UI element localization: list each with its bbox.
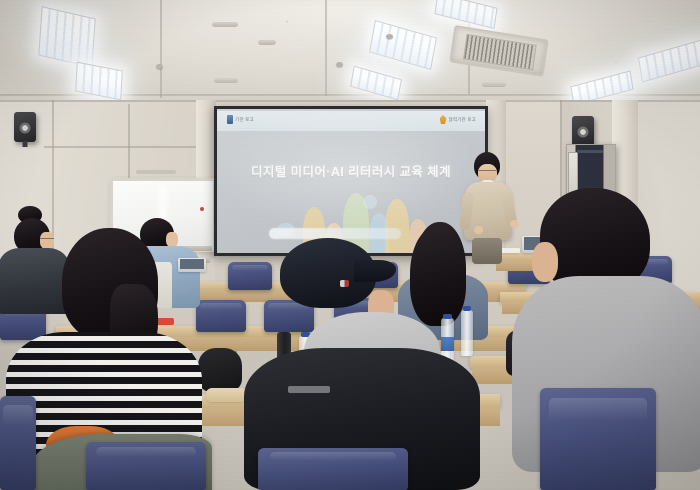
chair-foreground (540, 388, 656, 490)
chair-foreground (0, 396, 36, 490)
slide-logo-right: 협력기관 로고 (440, 115, 477, 124)
jacket-brand-text (288, 386, 330, 393)
presenter-glasses-icon (479, 170, 496, 174)
lecture-hall-photo: 기관 로고 협력기관 로고 디지털 미디어·AI 리터러시 교육 체계 (0, 0, 700, 490)
chair-foreground (86, 442, 206, 490)
ceiling-seam (325, 0, 327, 96)
slide-logo-left: 기관 로고 (227, 115, 254, 124)
slide-title: 디지털 미디어·AI 리터러시 교육 체계 (217, 161, 485, 180)
smoke-detector-icon (156, 64, 163, 69)
wall-speaker-right (572, 116, 594, 146)
slide-logo-left-text: 기관 로고 (235, 117, 254, 123)
slide-decor-blob (363, 195, 377, 209)
slide-logo-right-text: 협력기관 로고 (449, 117, 477, 123)
whiteboard-rail (136, 170, 176, 174)
chair-foreground (258, 448, 408, 490)
cap-brim (354, 260, 396, 282)
partner-logo-icon (440, 115, 447, 124)
ceiling-fixture (212, 22, 238, 27)
wall-speaker-left (14, 112, 36, 142)
ceiling-seam (160, 0, 162, 98)
ceiling-fixture (482, 82, 506, 87)
institution-logo-icon (227, 115, 233, 124)
ceiling-fixture (214, 78, 238, 83)
smoke-detector-icon (336, 62, 343, 67)
ear-and-neck (532, 242, 558, 282)
ceiling-fixture (258, 40, 276, 45)
cap-logo-icon (340, 280, 349, 287)
smoke-detector-icon (386, 34, 393, 39)
wall-ceiling-joint (0, 100, 700, 102)
